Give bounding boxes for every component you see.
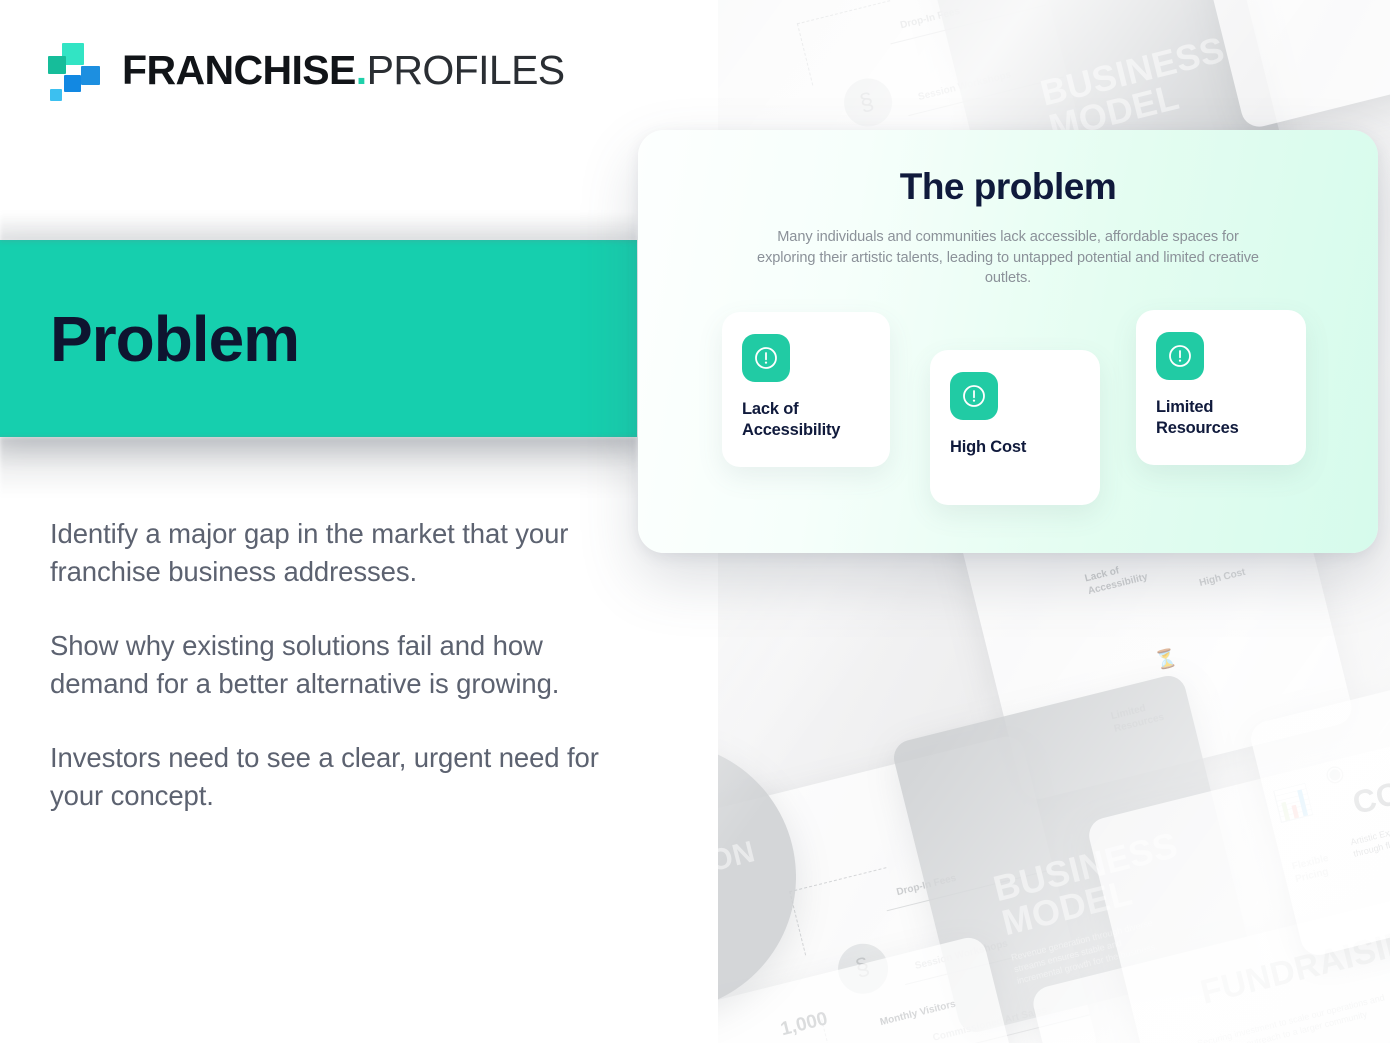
problem-card-high-cost[interactable]: High Cost (930, 350, 1100, 505)
left-content-panel: FRANCHISE.PROFILES Problem Identify a ma… (0, 0, 718, 1043)
problem-card-label: High Cost (950, 437, 1080, 458)
problem-card-limited-resources[interactable]: Limited Resources (1136, 310, 1306, 465)
problem-preview-panel: The problem Many individuals and communi… (638, 130, 1378, 553)
body-paragraph: Investors need to see a clear, urgent ne… (50, 739, 620, 815)
backdrop-stat-label: Monthly Visitors (879, 999, 957, 1030)
alert-circle-icon (1156, 332, 1204, 380)
brand-wordmark: FRANCHISE.PROFILES (122, 50, 565, 91)
brand-name-dot: . (356, 47, 367, 93)
page-title: Problem (50, 307, 299, 371)
problem-card-lack-of-accessibility[interactable]: Lack of Accessibility (722, 312, 890, 467)
body-paragraph: Show why existing solutions fail and how… (50, 627, 620, 703)
alert-circle-icon (742, 334, 790, 382)
brand-name-strong: FRANCHISE (122, 47, 356, 93)
preview-subheading: Many individuals and communities lack ac… (748, 227, 1268, 289)
title-band-top-shadow (0, 212, 637, 242)
section-title-band: Problem (0, 240, 637, 437)
backdrop-stat-value: 1,000 (778, 1008, 829, 1041)
backdrop-slide-title: BUSINESS MODEL (1037, 31, 1237, 145)
problem-card-label: Lack of Accessibility (742, 399, 870, 442)
brand-logo: FRANCHISE.PROFILES (48, 42, 565, 98)
backdrop-slide-title: ON (716, 837, 758, 877)
brand-name-light: PROFILES (367, 47, 565, 93)
backdrop-label: Lack of Accessibility (1084, 559, 1149, 598)
backdrop-label: High Cost (1198, 567, 1247, 591)
body-paragraph: Identify a major gap in the market that … (50, 515, 620, 591)
problem-card-label: Limited Resources (1156, 397, 1286, 440)
body-copy: Identify a major gap in the market that … (50, 515, 620, 815)
logo-mark-squares-icon (48, 42, 104, 98)
preview-heading: The problem (638, 166, 1378, 208)
title-band-drop-shadow (0, 437, 637, 497)
backdrop-slide-title: COM (1350, 771, 1390, 820)
slide-canvas: § Drop-In Fees Session Workshops Commiss… (0, 0, 1390, 1043)
alert-circle-icon (950, 372, 998, 420)
